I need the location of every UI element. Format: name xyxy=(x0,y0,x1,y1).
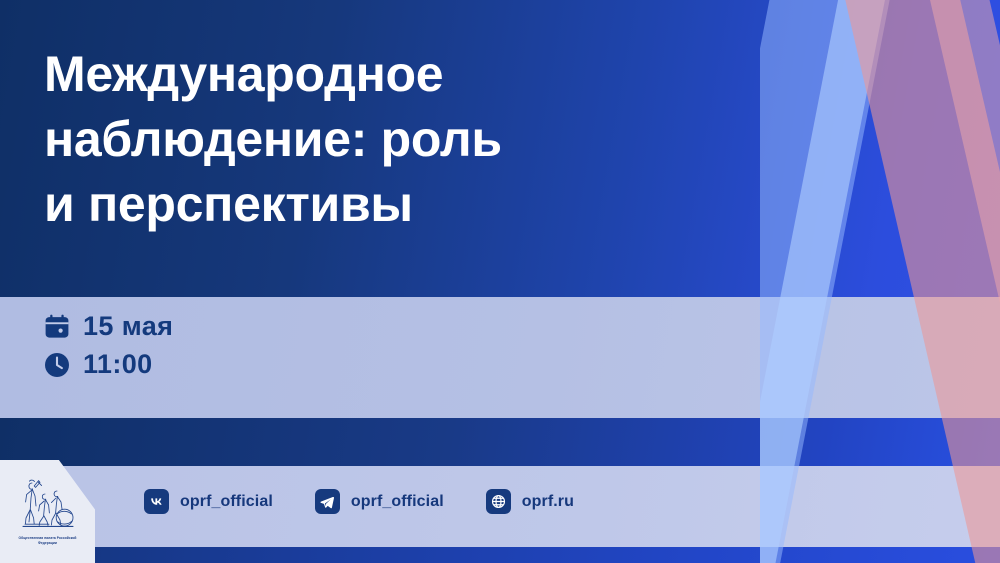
telegram-icon xyxy=(315,489,340,514)
globe-icon xyxy=(486,489,511,514)
event-time-value: 11:00 xyxy=(83,351,153,378)
social-link-website[interactable]: oprf.ru xyxy=(486,489,574,514)
social-link-vk-handle: oprf_official xyxy=(180,494,273,510)
event-time-row: 11:00 xyxy=(44,351,173,378)
social-link-telegram[interactable]: oprf_official xyxy=(315,489,444,514)
civic-chamber-emblem xyxy=(19,477,77,533)
calendar-icon xyxy=(44,314,70,340)
social-link-vk[interactable]: oprf_official xyxy=(144,489,273,514)
social-link-website-handle: oprf.ru xyxy=(522,494,574,510)
social-links: oprf_official oprf_official op xyxy=(144,489,574,514)
event-meta: 15 мая 11:00 xyxy=(44,313,173,378)
event-date-row: 15 мая xyxy=(44,313,173,340)
event-announcement-banner: Международное наблюдение: роль и перспек… xyxy=(0,0,1000,563)
organization-logo-caption: Общественная палата Российской Федерации xyxy=(11,536,85,545)
background-band-bottom xyxy=(0,547,1000,563)
event-title: Международное наблюдение: роль и перспек… xyxy=(44,42,744,237)
vk-icon xyxy=(144,489,169,514)
social-link-telegram-handle: oprf_official xyxy=(351,494,444,510)
clock-icon xyxy=(44,352,70,378)
background-band-divider xyxy=(0,418,1000,466)
event-date-value: 15 мая xyxy=(83,313,173,340)
